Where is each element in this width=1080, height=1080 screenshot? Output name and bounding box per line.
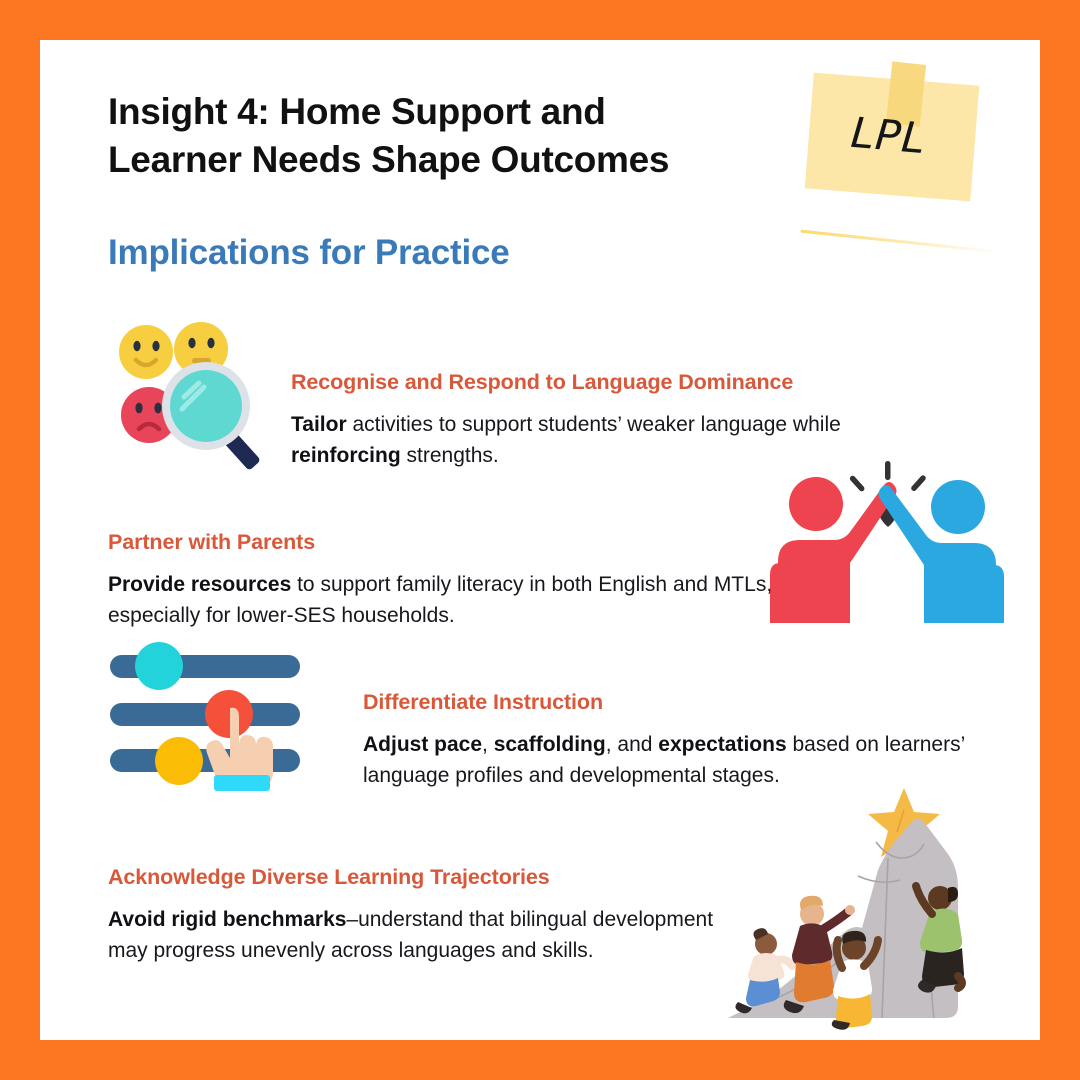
page-title: Insight 4: Home Support and Learner Need… xyxy=(108,88,768,184)
high-five-icon xyxy=(758,455,1020,630)
section-3: Differentiate Instruction Adjust pace, s… xyxy=(363,690,1028,791)
section-3-heading: Differentiate Instruction xyxy=(363,690,1028,715)
sticky-note-shadow xyxy=(800,230,999,254)
section-1: Recognise and Respond to Language Domina… xyxy=(291,370,951,471)
page-title-line-2: Learner Needs Shape Outcomes xyxy=(108,136,768,184)
faces-magnifier-icon xyxy=(100,305,290,475)
section-1-heading: Recognise and Respond to Language Domina… xyxy=(291,370,951,395)
section-4: Acknowledge Diverse Learning Trajectorie… xyxy=(108,865,748,966)
section-1-body: Tailor activities to support students’ w… xyxy=(291,409,951,471)
section-2: Partner with Parents Provide resources t… xyxy=(108,530,788,631)
mountain-climbers-icon xyxy=(708,780,993,1025)
section-3-body: Adjust pace, scaffolding, and expectatio… xyxy=(363,729,1028,791)
sliders-hand-icon xyxy=(102,645,332,795)
sticky-note-label: LPL xyxy=(849,108,928,163)
sticky-note: LPL xyxy=(795,55,1010,285)
section-2-body: Provide resources to support family lite… xyxy=(108,569,788,631)
section-4-heading: Acknowledge Diverse Learning Trajectorie… xyxy=(108,865,748,890)
section-subtitle: Implications for Practice xyxy=(108,233,510,273)
page-title-line-1: Insight 4: Home Support and xyxy=(108,91,606,132)
poster-frame: Insight 4: Home Support and Learner Need… xyxy=(40,40,1040,1040)
section-4-body: Avoid rigid benchmarks–understand that b… xyxy=(108,904,748,966)
section-2-heading: Partner with Parents xyxy=(108,530,788,555)
